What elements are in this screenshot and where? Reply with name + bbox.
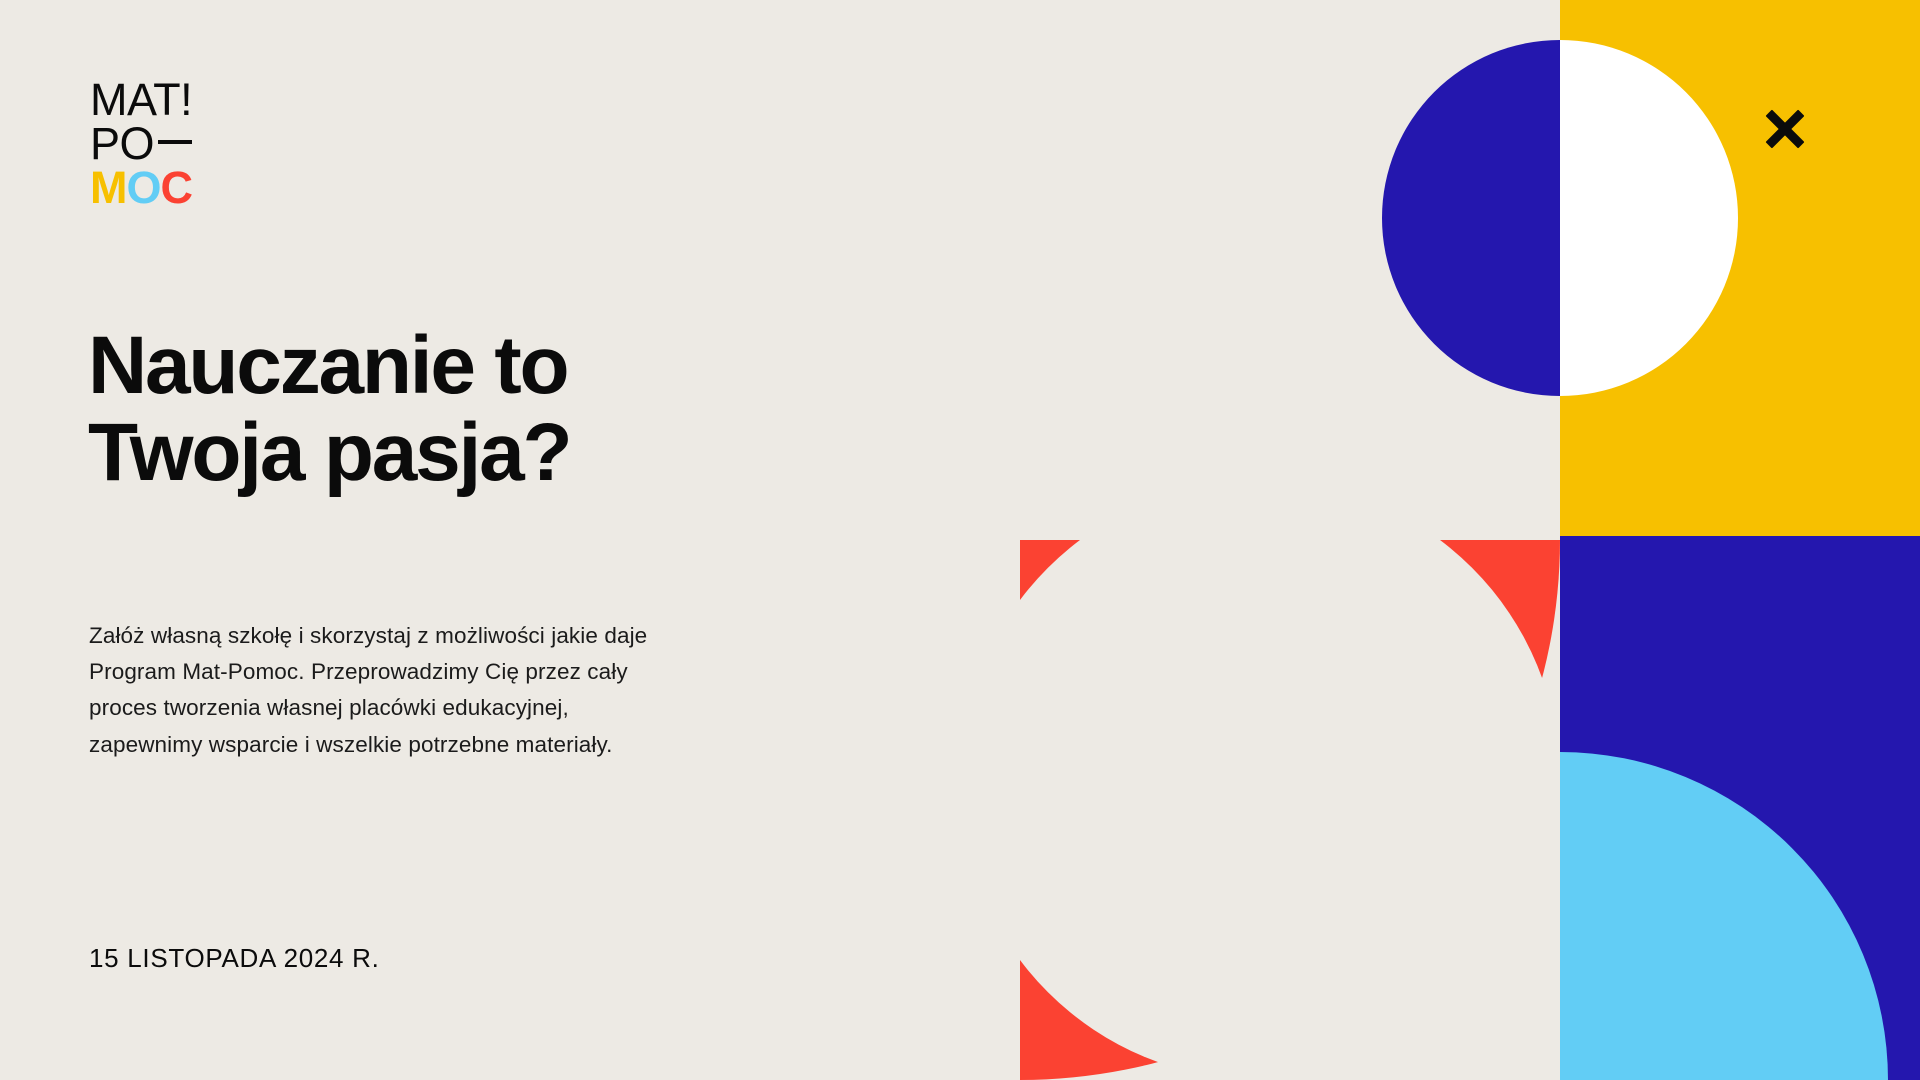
logo-line-1: MAT! <box>90 78 320 122</box>
cyan-quarter-circle-shape <box>1560 752 1888 1080</box>
split-circle <box>1382 40 1738 396</box>
logo-line-2-text: PO <box>90 122 154 166</box>
blue-block <box>1560 536 1920 1080</box>
red-ring-hole <box>1020 540 1560 1080</box>
logo-line-3: MOC <box>90 166 320 210</box>
page-title-line-2: Twoja pasja? <box>88 410 808 497</box>
brand-logo[interactable]: MAT! PO MOC <box>90 78 320 210</box>
logo-dash-icon <box>158 140 192 144</box>
lede-paragraph: Załóż własną szkołę i skorzystaj z możli… <box>89 618 669 764</box>
logo-char-o: O <box>127 166 161 210</box>
logo-line-2: PO <box>90 122 320 166</box>
cyan-quarter-circle <box>1560 752 1888 1080</box>
red-quarter-ring <box>1020 540 1560 1080</box>
close-icon[interactable] <box>1762 106 1808 152</box>
yellow-block <box>1560 0 1920 536</box>
logo-line-1-text: MAT! <box>90 78 192 122</box>
page-title: Nauczanie to Twoja pasja? <box>88 323 808 497</box>
slide-canvas: MAT! PO MOC Nauczanie to Twoja pasja? Za… <box>0 0 1920 1080</box>
split-circle-left-half <box>1382 40 1560 396</box>
event-date: 15 LISTOPADA 2024 R. <box>89 943 380 974</box>
logo-char-c: C <box>161 166 193 210</box>
logo-char-m: M <box>90 166 127 210</box>
split-circle-right-half <box>1560 40 1738 396</box>
page-title-line-1: Nauczanie to <box>88 323 808 410</box>
red-ring-outer <box>1020 540 1560 1080</box>
content-column: MAT! PO MOC Nauczanie to Twoja pasja? Za… <box>0 0 880 1080</box>
